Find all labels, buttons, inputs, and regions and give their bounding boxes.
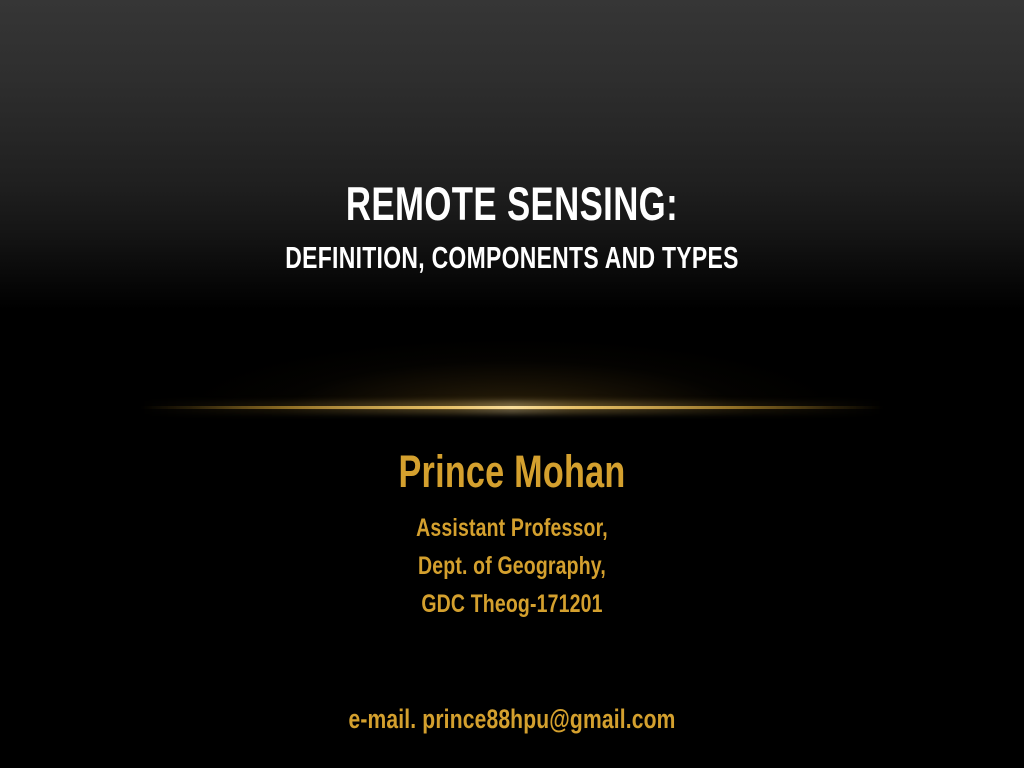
author-name: Prince Mohan bbox=[123, 447, 901, 497]
gold-divider-rule bbox=[140, 406, 884, 409]
slide-background bbox=[0, 0, 1024, 768]
contact-block: e-mail. prince88hpu@gmail.com bbox=[0, 703, 1024, 735]
affiliation-lines: Assistant Professor, Dept. of Geography,… bbox=[0, 509, 1024, 623]
affiliation-line: Dept. of Geography, bbox=[113, 547, 912, 585]
slide-title: REMOTE SENSING: bbox=[133, 178, 891, 230]
slide-subtitle: DEFINITION, COMPONENTS AND TYPES bbox=[133, 240, 891, 276]
affiliation-line: GDC Theog-171201 bbox=[113, 585, 912, 623]
affiliation-line: Assistant Professor, bbox=[113, 509, 912, 547]
title-block: REMOTE SENSING: DEFINITION, COMPONENTS A… bbox=[0, 178, 1024, 276]
title-slide: REMOTE SENSING: DEFINITION, COMPONENTS A… bbox=[0, 0, 1024, 768]
author-block: Prince Mohan Assistant Professor, Dept. … bbox=[0, 447, 1024, 623]
email-address: e-mail. prince88hpu@gmail.com bbox=[113, 703, 912, 735]
